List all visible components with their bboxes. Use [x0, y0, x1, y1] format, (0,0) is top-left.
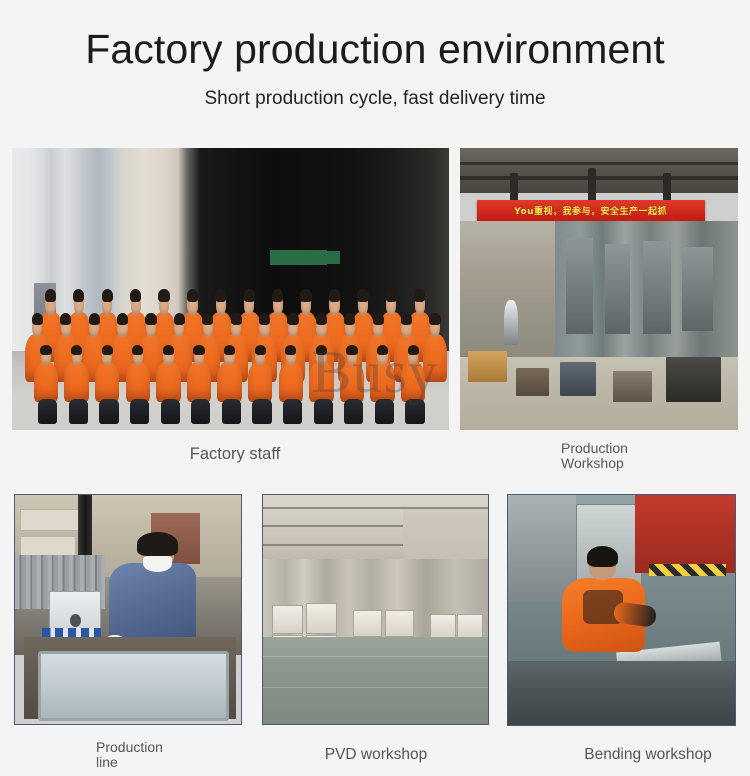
workshop-roof: [460, 148, 738, 193]
workshop-floor: [263, 637, 488, 724]
page-header: Factory production environment Short pro…: [0, 0, 750, 111]
page-title: Factory production environment: [0, 26, 750, 73]
caption-pvd-workshop: PVD workshop: [305, 746, 447, 763]
stacked-crate: [430, 614, 457, 639]
red-machine: [635, 495, 735, 573]
green-exit-sign: [270, 250, 327, 266]
machine-unit: [643, 241, 671, 334]
machine-unit: [605, 244, 630, 334]
stacked-crate: [457, 614, 484, 639]
stacked-crate: [272, 605, 303, 634]
face-mask: [143, 556, 171, 572]
photo-pvd-workshop-canvas: [263, 495, 488, 724]
worker-legs: [12, 399, 449, 424]
photo-factory-staff[interactable]: [12, 148, 449, 430]
photo-production-workshop[interactable]: You重视，我参与，安全生产一起抓: [460, 148, 738, 430]
worker-hair: [137, 532, 179, 556]
storage-crate: [468, 351, 507, 382]
caption-factory-staff: Factory staff: [170, 446, 300, 463]
machine-unit: [682, 247, 713, 332]
storage-shelf: [20, 509, 81, 532]
photo-bending-workshop[interactable]: [507, 494, 736, 726]
photo-factory-staff-canvas: [12, 148, 449, 430]
worker-hair: [587, 546, 618, 567]
stacked-crate: [353, 610, 382, 637]
page-subtitle: Short production cycle, fast delivery ti…: [0, 87, 750, 111]
stacked-crate: [306, 603, 337, 635]
photo-production-workshop-canvas: You重视，我参与，安全生产一起抓: [460, 148, 738, 430]
worker-figure: [558, 546, 649, 679]
metal-sink-basin: [38, 651, 229, 721]
storage-crate: [560, 362, 596, 396]
worker-row-front: [12, 362, 449, 401]
caption-production-workshop: Production Workshop: [561, 441, 701, 471]
photo-production-line-canvas: [15, 495, 241, 724]
worker-figure: [504, 300, 518, 345]
caption-production-line: Production line: [96, 740, 236, 770]
safety-banner: You重视，我参与，安全生产一起抓: [477, 200, 705, 221]
hazard-stripe: [649, 564, 726, 576]
photo-production-line[interactable]: [14, 494, 242, 725]
stacked-crate: [385, 610, 414, 637]
machine-bench: [508, 661, 735, 725]
caption-bending-workshop: Bending workshop: [560, 746, 736, 763]
storage-crate: [613, 371, 652, 402]
storage-crate: [666, 357, 722, 402]
storage-shelf: [20, 536, 76, 556]
factory-environment-page: Factory production environment Short pro…: [0, 0, 750, 776]
machine-unit: [566, 238, 594, 334]
storage-crate: [516, 368, 549, 396]
photo-bending-workshop-canvas: [508, 495, 735, 725]
photo-pvd-workshop[interactable]: [262, 494, 489, 725]
worker-uniform: [109, 563, 196, 645]
safety-banner-text: You重视，我参与，安全生产一起抓: [514, 204, 667, 217]
